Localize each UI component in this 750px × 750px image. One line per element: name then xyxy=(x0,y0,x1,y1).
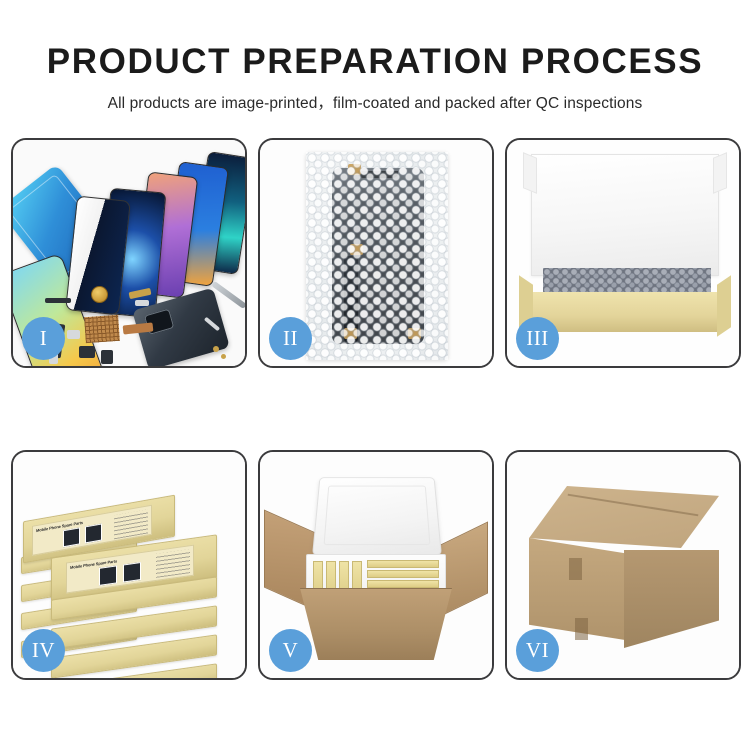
step-badge-3: III xyxy=(516,317,559,360)
header: PRODUCT PREPARATION PROCESS All products… xyxy=(0,0,750,113)
step-card-6: VI xyxy=(505,450,741,680)
shipping-carton-open xyxy=(300,588,452,660)
label-product-image-a xyxy=(63,527,80,547)
label-spec-lines-front xyxy=(156,549,190,578)
part-camera-module xyxy=(79,346,95,358)
kraft-box-base xyxy=(529,292,721,332)
inner-box-5 xyxy=(367,560,439,568)
label-product-image-c xyxy=(99,565,117,586)
step-badge-1: I xyxy=(22,317,65,360)
product-preparation-infographic: PRODUCT PREPARATION PROCESS All products… xyxy=(0,0,750,750)
label-product-image-b xyxy=(85,523,102,543)
part-screw-1 xyxy=(213,346,219,352)
open-box-lid xyxy=(531,154,719,276)
page-subtitle: All products are image-printed，film-coat… xyxy=(0,91,750,113)
carton-top-face xyxy=(529,486,719,548)
process-step-grid: I II I xyxy=(11,138,742,680)
label-spec-lines-back xyxy=(114,509,148,539)
step-badge-2: II xyxy=(269,317,312,360)
inner-box-7 xyxy=(367,580,439,588)
bubble-wrap-bag xyxy=(306,152,448,360)
step-badge-4: IV xyxy=(22,629,65,672)
step-card-4: Mobile Phone Spare Parts Mobile Phone Sp… xyxy=(11,450,247,680)
label-product-image-d xyxy=(123,562,141,583)
part-vibrator xyxy=(101,350,113,364)
inner-box-6 xyxy=(367,570,439,578)
step-card-1: I xyxy=(11,138,247,368)
step-badge-5: V xyxy=(269,629,312,672)
foam-box-lid xyxy=(312,477,442,555)
speaker-mesh-coin xyxy=(91,286,108,303)
part-earpiece xyxy=(45,298,71,303)
bubble-texture xyxy=(306,152,448,360)
part-bracket xyxy=(135,300,149,306)
step-badge-6: VI xyxy=(516,629,559,672)
step-card-5: V xyxy=(258,450,494,680)
carton-tab-lower xyxy=(575,618,588,640)
part-connector xyxy=(67,330,80,339)
carton-side-face xyxy=(624,550,719,648)
page-title: PRODUCT PREPARATION PROCESS xyxy=(0,42,750,82)
step-card-2: II xyxy=(258,138,494,368)
part-screw-2 xyxy=(221,354,226,359)
copper-shield-mesh xyxy=(84,315,120,343)
step-card-3: III xyxy=(505,138,741,368)
carton-tab-upper xyxy=(569,558,582,580)
